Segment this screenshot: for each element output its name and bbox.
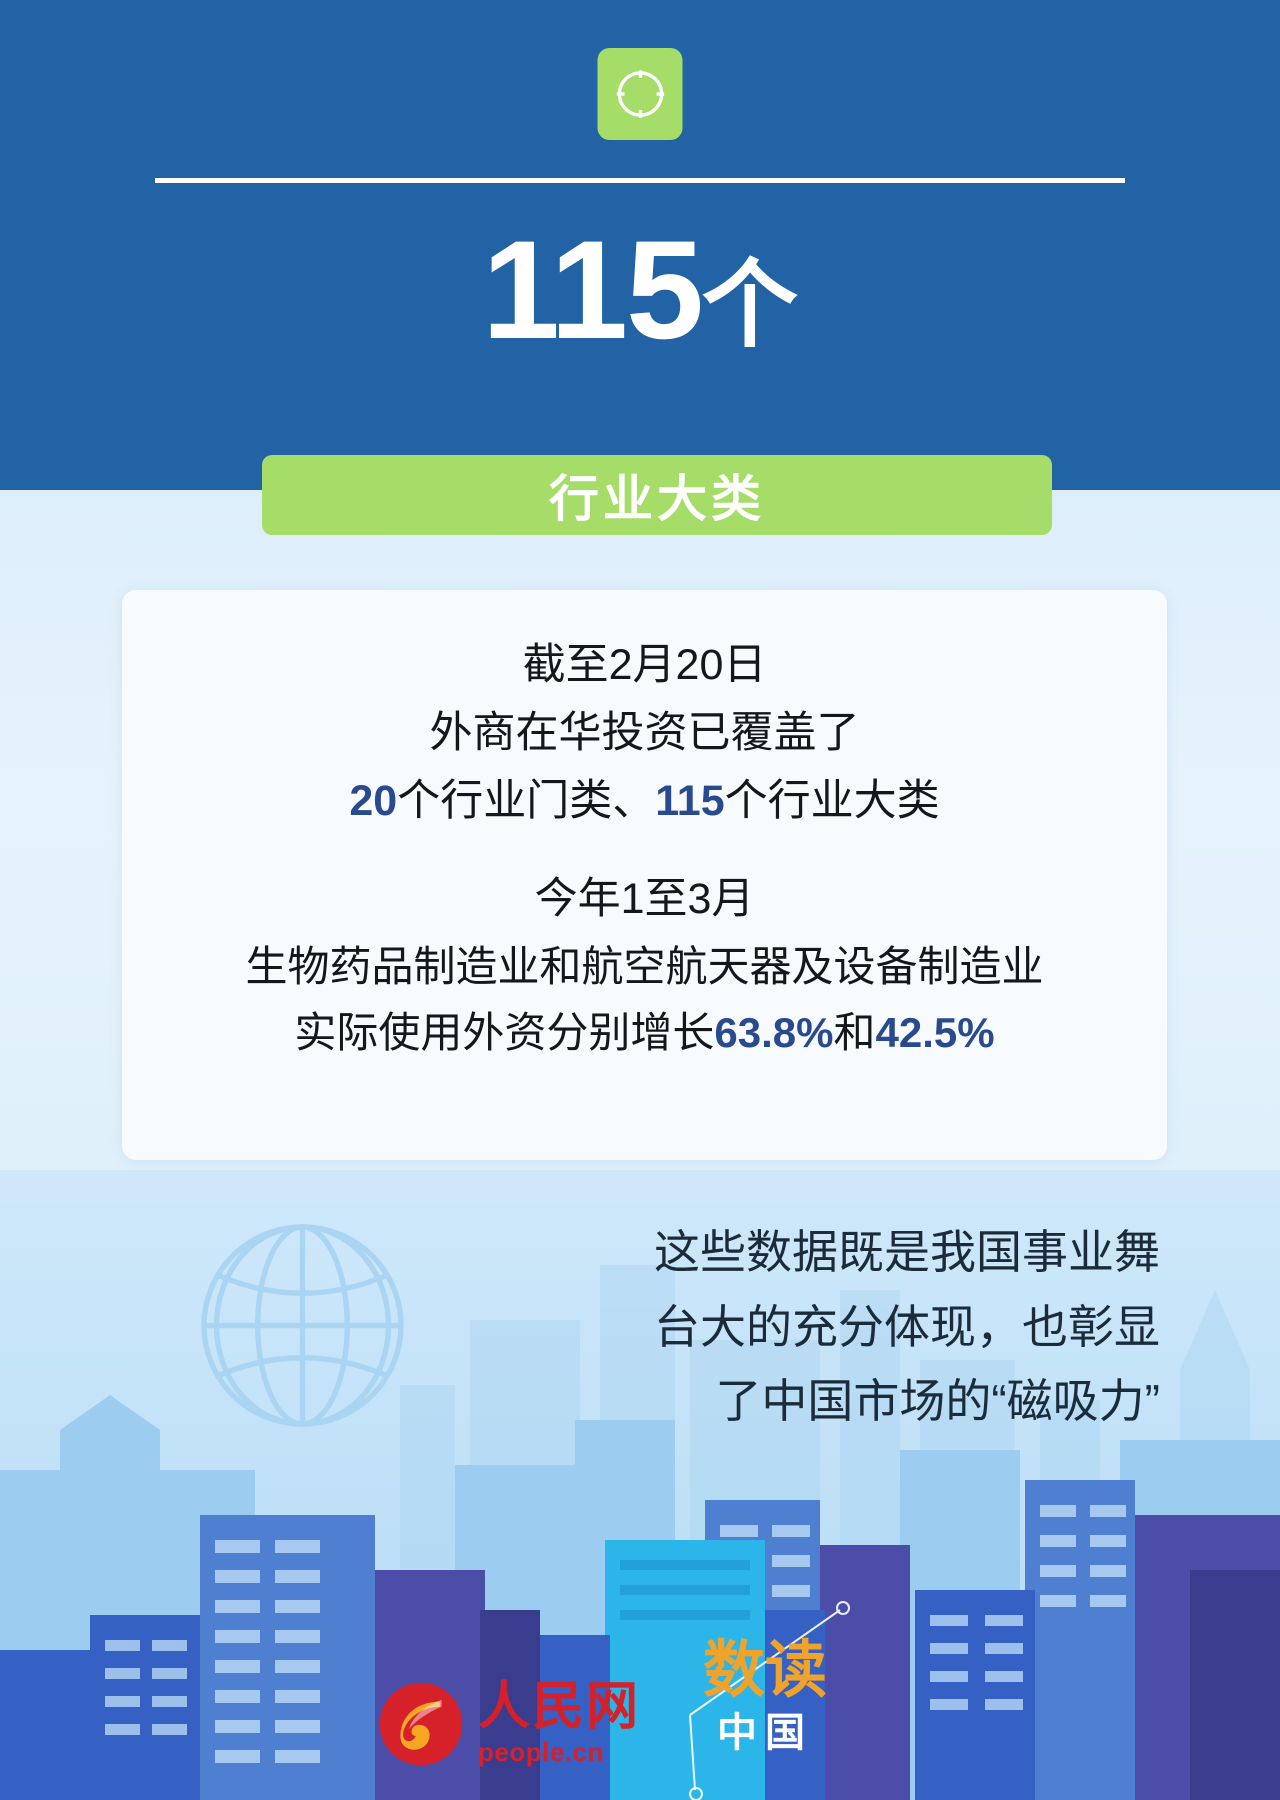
infographic-poster: 115个 行业大类 截至2月20日 外商在华投资已覆盖了 20个行业门类、115… <box>0 0 1280 1800</box>
compass-icon-badge <box>598 48 683 140</box>
stat-mid-a: 个行业门类、 <box>397 777 655 825</box>
people-daily-logo-icon <box>378 1681 464 1767</box>
stat-value-industries-classes: 115 <box>655 777 724 825</box>
header-band: 115个 <box>0 0 1280 490</box>
quote-line-2: 台大的充分体现，也彰显 <box>500 1290 1160 1365</box>
card-line-coverage: 外商在华投资已覆盖了 <box>430 700 860 768</box>
card-line-date: 截至2月20日 <box>523 632 767 700</box>
stat-value-industries-categories: 20 <box>349 777 397 825</box>
quote-line-3: 了中国市场的“磁吸力” <box>500 1364 1160 1439</box>
globe-icon <box>195 1218 410 1433</box>
card-line-stat: 20个行业门类、115个行业大类 <box>349 768 939 836</box>
growth-prefix: 实际使用外资分别增长 <box>294 1009 714 1056</box>
growth-conjunction: 和 <box>834 1009 876 1056</box>
series-logo-shudu-zhongguo[interactable]: 数读 中国 <box>695 1624 835 1774</box>
series-logo-line-2: 中国 <box>717 1708 813 1758</box>
people-daily-logo[interactable]: 人民网 people.cn <box>378 1680 640 1768</box>
growth-value-aero: 42.5% <box>876 1009 995 1056</box>
card-line-sectors: 生物药品制造业和航空航天器及设备制造业 <box>245 934 1043 1000</box>
headline-number-value: 115 <box>482 211 702 368</box>
stats-card: 截至2月20日 外商在华投资已覆盖了 20个行业门类、115个行业大类 今年1至… <box>122 590 1167 1160</box>
compass-icon <box>613 67 667 121</box>
headline-number: 115个 <box>0 212 1280 369</box>
headline-number-unit: 个 <box>702 252 798 359</box>
footer: 人民网 people.cn 数读 中国 <box>0 1600 1280 1800</box>
stat-mid-b: 个行业大类 <box>725 777 940 825</box>
card-line-growth: 实际使用外资分别增长63.8%和42.5% <box>294 1000 994 1066</box>
quote-line-1: 这些数据既是我国事业舞 <box>500 1215 1160 1290</box>
closing-quote: 这些数据既是我国事业舞 台大的充分体现，也彰显 了中国市场的“磁吸力” <box>500 1215 1160 1439</box>
people-daily-name-cn: 人民网 <box>478 1680 640 1735</box>
growth-value-bio: 63.8% <box>714 1009 833 1056</box>
category-banner: 行业大类 <box>262 455 1052 535</box>
people-daily-name-en: people.cn <box>478 1737 640 1768</box>
series-logo-line-1: 数读 <box>703 1640 827 1702</box>
category-banner-label: 行业大类 <box>549 459 765 531</box>
card-line-period: 今年1至3月 <box>535 866 755 934</box>
people-daily-wordmark: 人民网 people.cn <box>478 1680 640 1768</box>
header-divider-rule <box>155 178 1125 183</box>
